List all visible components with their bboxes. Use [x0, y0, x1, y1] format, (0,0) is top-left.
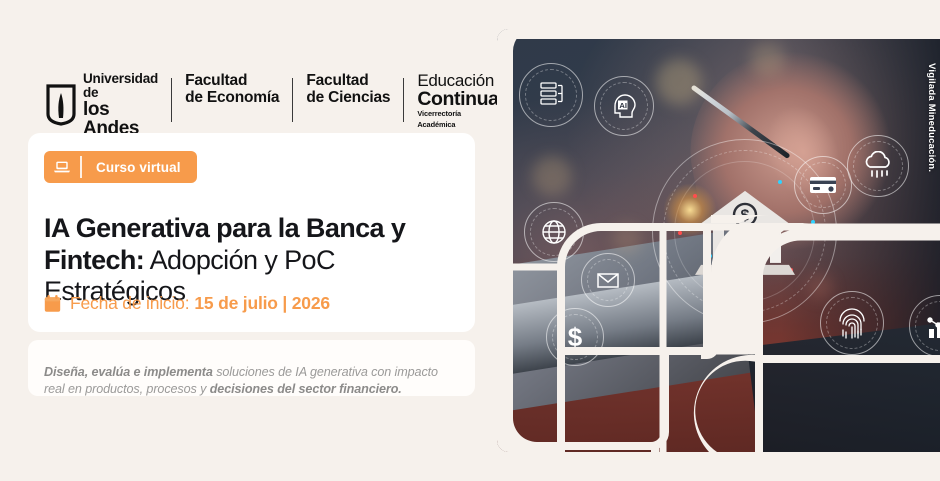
faculty-economia-line1: Facultad	[185, 72, 279, 89]
institution-logo-strip: Universidad de los Andes Facultad de Eco…	[46, 72, 499, 128]
course-promo-banner: Universidad de los Andes Facultad de Eco…	[0, 0, 940, 481]
ai-head-icon: AI	[594, 76, 654, 136]
faculty-ciencias-line2: de Ciencias	[306, 89, 390, 106]
hero-image: $ AI	[497, 29, 940, 452]
calendar-icon	[44, 295, 61, 313]
dollar-sign-icon: $	[546, 308, 604, 366]
cloud-rain-data-icon	[847, 135, 909, 197]
modality-badge[interactable]: Curso virtual	[44, 151, 197, 183]
start-date-label: Fecha de inicio:	[70, 293, 189, 314]
educacion-continua-line1: Educación	[417, 72, 498, 89]
globe-icon	[524, 202, 584, 262]
faculty-ciencias-logo: Facultad de Ciencias	[306, 72, 390, 107]
logo-divider-2	[292, 78, 293, 122]
uniandes-logo: Universidad de los Andes	[46, 72, 158, 138]
faculty-economia-line2: de Economía	[185, 89, 279, 106]
tagline-bold-lead: Diseña, evalúa e implementa	[44, 365, 213, 379]
educacion-continua-logo: Educación Continua Vicerrectoría Académi…	[417, 72, 498, 130]
laptop-icon	[44, 151, 80, 183]
bank-building-dollar-icon: $	[691, 185, 799, 281]
educacion-continua-line3: Vicerrectoría Académica	[417, 109, 498, 130]
server-data-flow-icon	[519, 63, 583, 127]
logo-divider-1	[171, 78, 172, 122]
course-info-card: Curso virtual IA Generativa para la Banc…	[28, 133, 475, 332]
badge-divider	[80, 156, 82, 178]
tagline-panel: Diseña, evalúa e implementa soluciones d…	[28, 340, 475, 396]
uniandes-wordmark: Universidad de los Andes	[83, 72, 158, 138]
faculty-ciencias-line1: Facultad	[306, 72, 390, 89]
uniandes-shield-icon	[46, 84, 76, 126]
svg-text:$: $	[740, 208, 749, 225]
hud-spark	[778, 180, 782, 184]
modality-badge-label: Curso virtual	[82, 151, 197, 183]
faculty-economia-logo: Facultad de Economía	[185, 72, 279, 107]
start-date-value: 15 de julio | 2026	[194, 293, 330, 314]
logo-divider-3	[403, 78, 404, 122]
start-date-row: Fecha de inicio: 15 de julio | 2026	[44, 293, 330, 314]
course-tagline: Diseña, evalúa e implementa soluciones d…	[44, 364, 461, 400]
hud-spark	[745, 294, 749, 298]
tagline-bold-tail: decisiones del sector financiero.	[210, 382, 402, 396]
vigilada-mineducacion-label: Vigilada Mineducación.	[926, 63, 937, 172]
left-content-column: Universidad de los Andes Facultad de Eco…	[0, 0, 490, 481]
svg-text:$: $	[567, 322, 582, 352]
uniandes-line1: Universidad de	[83, 72, 158, 99]
credit-card-icon	[794, 156, 852, 214]
svg-text:AI: AI	[620, 100, 628, 109]
envelope-icon	[581, 253, 635, 307]
educacion-continua-line2: Continua	[417, 89, 498, 109]
